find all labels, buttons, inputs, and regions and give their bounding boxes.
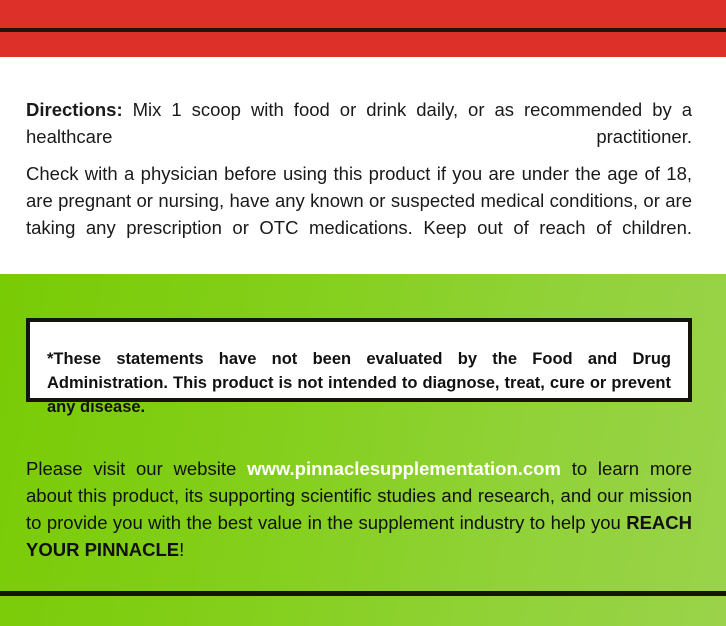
directions-heading: Directions:: [26, 99, 123, 120]
website-url[interactable]: www.pinnaclesupplementation.com: [247, 458, 561, 479]
green-section: *These statements have not been evaluate…: [0, 274, 726, 626]
top-band-divider-rule: [0, 28, 726, 32]
warning-paragraph: Check with a physician before using this…: [26, 160, 692, 268]
fda-disclaimer-box: *These statements have not been evaluate…: [26, 318, 692, 402]
website-lead-text: Please visit our website: [26, 458, 247, 479]
top-red-band: [0, 0, 726, 57]
website-paragraph: Please visit our website www.pinnaclesup…: [26, 455, 692, 563]
bottom-divider-rule: [0, 591, 726, 596]
directions-section: Directions: Mix 1 scoop with food or dri…: [0, 57, 726, 274]
supplement-label-panel: Directions: Mix 1 scoop with food or dri…: [0, 0, 726, 626]
fda-disclaimer-text: *These statements have not been evaluate…: [47, 347, 671, 419]
warning-body: Check with a physician before using this…: [26, 163, 692, 238]
tagline-trailing: !: [179, 539, 184, 560]
directions-body: Mix 1 scoop with food or drink daily, or…: [26, 99, 692, 147]
